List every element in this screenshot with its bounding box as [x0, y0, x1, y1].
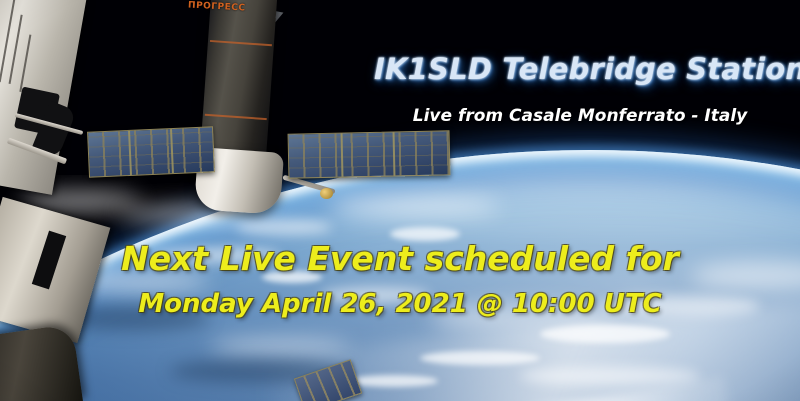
- truss-detail-line: [19, 34, 31, 91]
- page-subtitle: Live from Casale Monferrato - Italy: [374, 106, 786, 126]
- array-panel-seam: [341, 134, 344, 177]
- solar-array-starboard: [288, 130, 451, 178]
- array-panel-seam: [393, 132, 396, 175]
- screenshot-canvas: ПРОГРЕСС IK1SLD Telebridge Station Live …: [0, 0, 800, 401]
- page-title: IK1SLD Telebridge Station: [374, 52, 786, 86]
- event-announcement-line1: Next Live Event scheduled for: [0, 239, 800, 278]
- array-panel-seam: [128, 131, 132, 175]
- progress-hull-band: [210, 40, 272, 46]
- array-panel-seam: [170, 129, 174, 173]
- progress-hull-band: [205, 114, 267, 120]
- docking-probe-tip: [320, 188, 333, 199]
- solar-array-port: [87, 126, 215, 177]
- event-announcement-line2: Monday April 26, 2021 @ 10:00 UTC: [0, 289, 800, 319]
